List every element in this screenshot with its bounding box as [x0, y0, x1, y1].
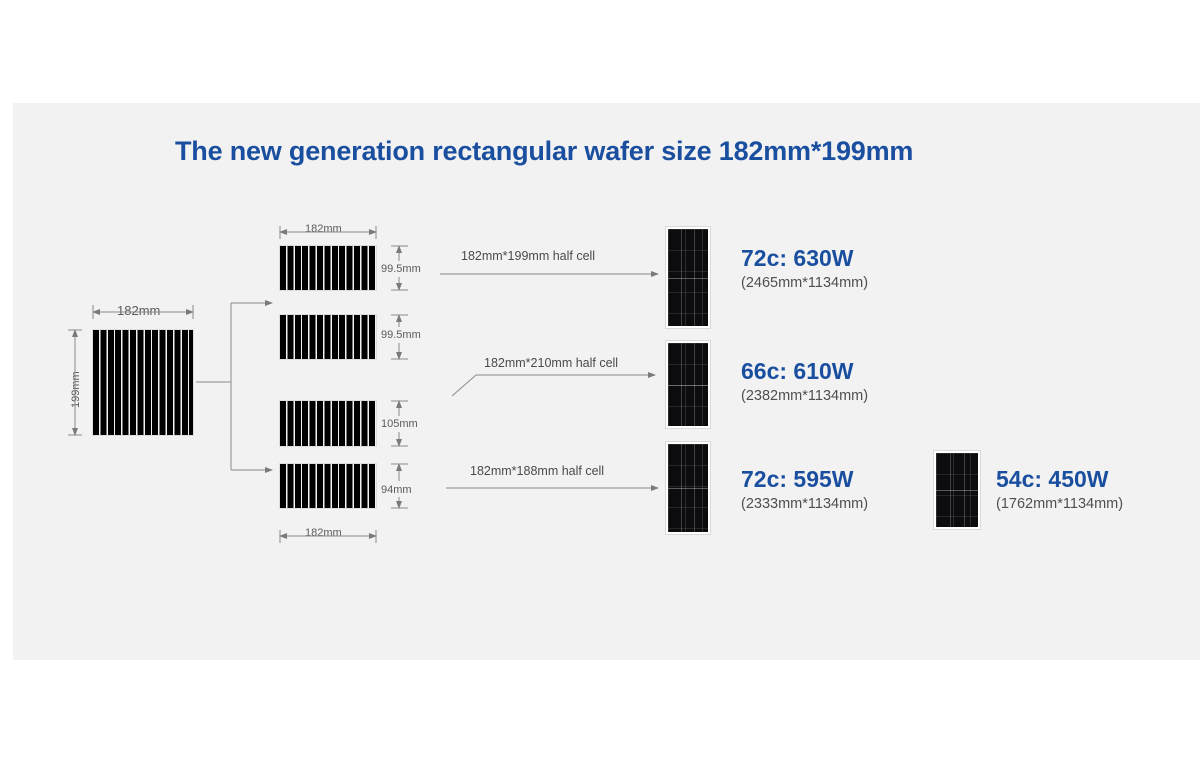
module-busbar: [950, 453, 951, 527]
half-cell-a2-height-label: 99.5mm: [381, 329, 421, 341]
module-glass: [668, 343, 708, 426]
module-image-72c-630w: [665, 226, 711, 329]
half-cell-a1: [280, 246, 376, 290]
half-cell-a2: [280, 315, 376, 359]
module-busbar: [681, 229, 682, 326]
module-dimensions-72c-595w: (2333mm*1134mm): [741, 496, 868, 512]
half-cell-b1: [280, 401, 376, 446]
half-cell-b2-width-label: 182mm: [305, 527, 342, 539]
module-spec-72c-595w: 72c: 595W: [741, 466, 854, 493]
module-busbar: [681, 343, 682, 426]
module-busbar: [694, 229, 695, 326]
module-glass: [936, 453, 978, 527]
module-glass: [668, 229, 708, 326]
half-cell-b1-height-label: 105mm: [381, 418, 418, 430]
module-busbar: [694, 343, 695, 426]
source-wafer-height-label: 199mm: [70, 371, 82, 408]
module-dimensions-66c-610w: (2382mm*1134mm): [741, 388, 868, 404]
half-cell-b2: [280, 464, 376, 508]
source-wafer-width-label: 182mm: [117, 303, 160, 318]
module-spec-66c-610w: 66c: 610W: [741, 358, 854, 385]
flow-label-182x210: 182mm*210mm half cell: [484, 356, 618, 370]
source-wafer-cell: [93, 330, 193, 435]
module-dimensions-72c-630w: (2465mm*1134mm): [741, 275, 868, 291]
module-image-66c-610w: [665, 340, 711, 429]
module-glass: [668, 444, 708, 532]
flow-label-182x188: 182mm*188mm half cell: [470, 464, 604, 478]
module-busbar: [694, 444, 695, 532]
module-busbar: [681, 444, 682, 532]
flow-label-182x199: 182mm*199mm half cell: [461, 249, 595, 263]
module-image-54c-450w: [933, 450, 981, 530]
module-image-72c-595w: [665, 441, 711, 535]
page-title: The new generation rectangular wafer siz…: [175, 136, 913, 167]
module-spec-54c-450w: 54c: 450W: [996, 466, 1109, 493]
module-busbar: [964, 453, 965, 527]
module-dimensions-54c-450w: (1762mm*1134mm): [996, 496, 1123, 512]
half-cell-b2-height-label: 94mm: [381, 484, 412, 496]
module-spec-72c-630w: 72c: 630W: [741, 245, 854, 272]
half-cell-a1-height-label: 99.5mm: [381, 263, 421, 275]
half-cell-a1-width-label: 182mm: [305, 223, 342, 235]
